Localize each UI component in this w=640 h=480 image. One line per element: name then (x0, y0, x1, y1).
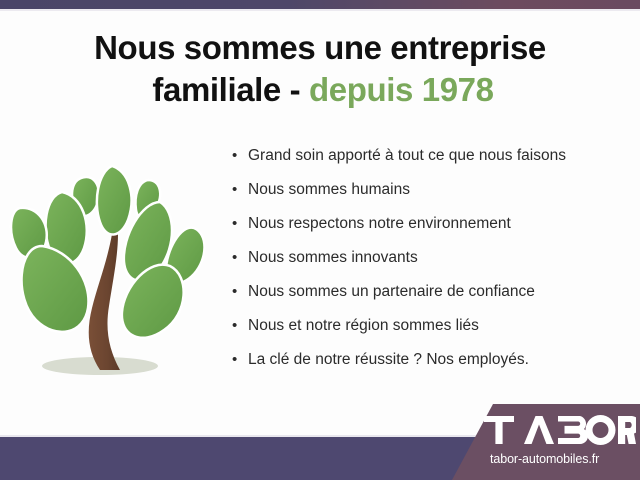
bullet-marker-icon: • (232, 182, 248, 197)
page-title: Nous sommes une entreprise familiale - d… (0, 27, 640, 111)
bullet-marker-icon: • (232, 216, 248, 231)
title-line-2-accent: depuis 1978 (309, 71, 494, 108)
brand-logo: tabor-automobiles.fr (484, 414, 640, 467)
list-item: • Grand soin apporté à tout ce que nous … (232, 147, 632, 181)
benefits-list: • Grand soin apporté à tout ce que nous … (232, 147, 632, 385)
list-item: • Nous sommes un partenaire de confiance (232, 283, 632, 317)
list-item-label: Nous sommes humains (248, 181, 410, 200)
list-item-label: La clé de notre réussite ? Nos employés. (248, 351, 529, 370)
list-item-label: Nous respectons notre environnement (248, 215, 511, 234)
list-item-label: Nous et notre région sommes liés (248, 317, 479, 336)
list-item-label: Grand soin apporté à tout ce que nous fa… (248, 147, 566, 166)
title-line-2-dash: - (290, 71, 301, 108)
top-accent-bar (0, 0, 640, 9)
tree-trunk (89, 234, 120, 370)
title-line-1: Nous sommes une entreprise (0, 27, 640, 69)
tabor-wordmark-icon (484, 414, 636, 446)
list-item: • La clé de notre réussite ? Nos employé… (232, 351, 632, 385)
logo-tagline: tabor-automobiles.fr (484, 453, 640, 467)
bullet-marker-icon: • (232, 352, 248, 367)
title-line-2-prefix: familiale (152, 71, 280, 108)
tree-illustration (8, 150, 218, 390)
list-item: • Nous sommes innovants (232, 249, 632, 283)
list-item: • Nous respectons notre environnement (232, 215, 632, 249)
list-item-label: Nous sommes un partenaire de confiance (248, 283, 535, 302)
slide-canvas: Nous sommes une entreprise familiale - d… (0, 0, 640, 480)
list-item: • Nous et notre région sommes liés (232, 317, 632, 351)
bullet-marker-icon: • (232, 318, 248, 333)
top-accent-underline (0, 9, 640, 11)
list-item-label: Nous sommes innovants (248, 249, 418, 268)
list-item: • Nous sommes humains (232, 181, 632, 215)
bullet-marker-icon: • (232, 284, 248, 299)
bullet-marker-icon: • (232, 148, 248, 163)
bullet-marker-icon: • (232, 250, 248, 265)
title-line-2: familiale - depuis 1978 (0, 69, 640, 111)
